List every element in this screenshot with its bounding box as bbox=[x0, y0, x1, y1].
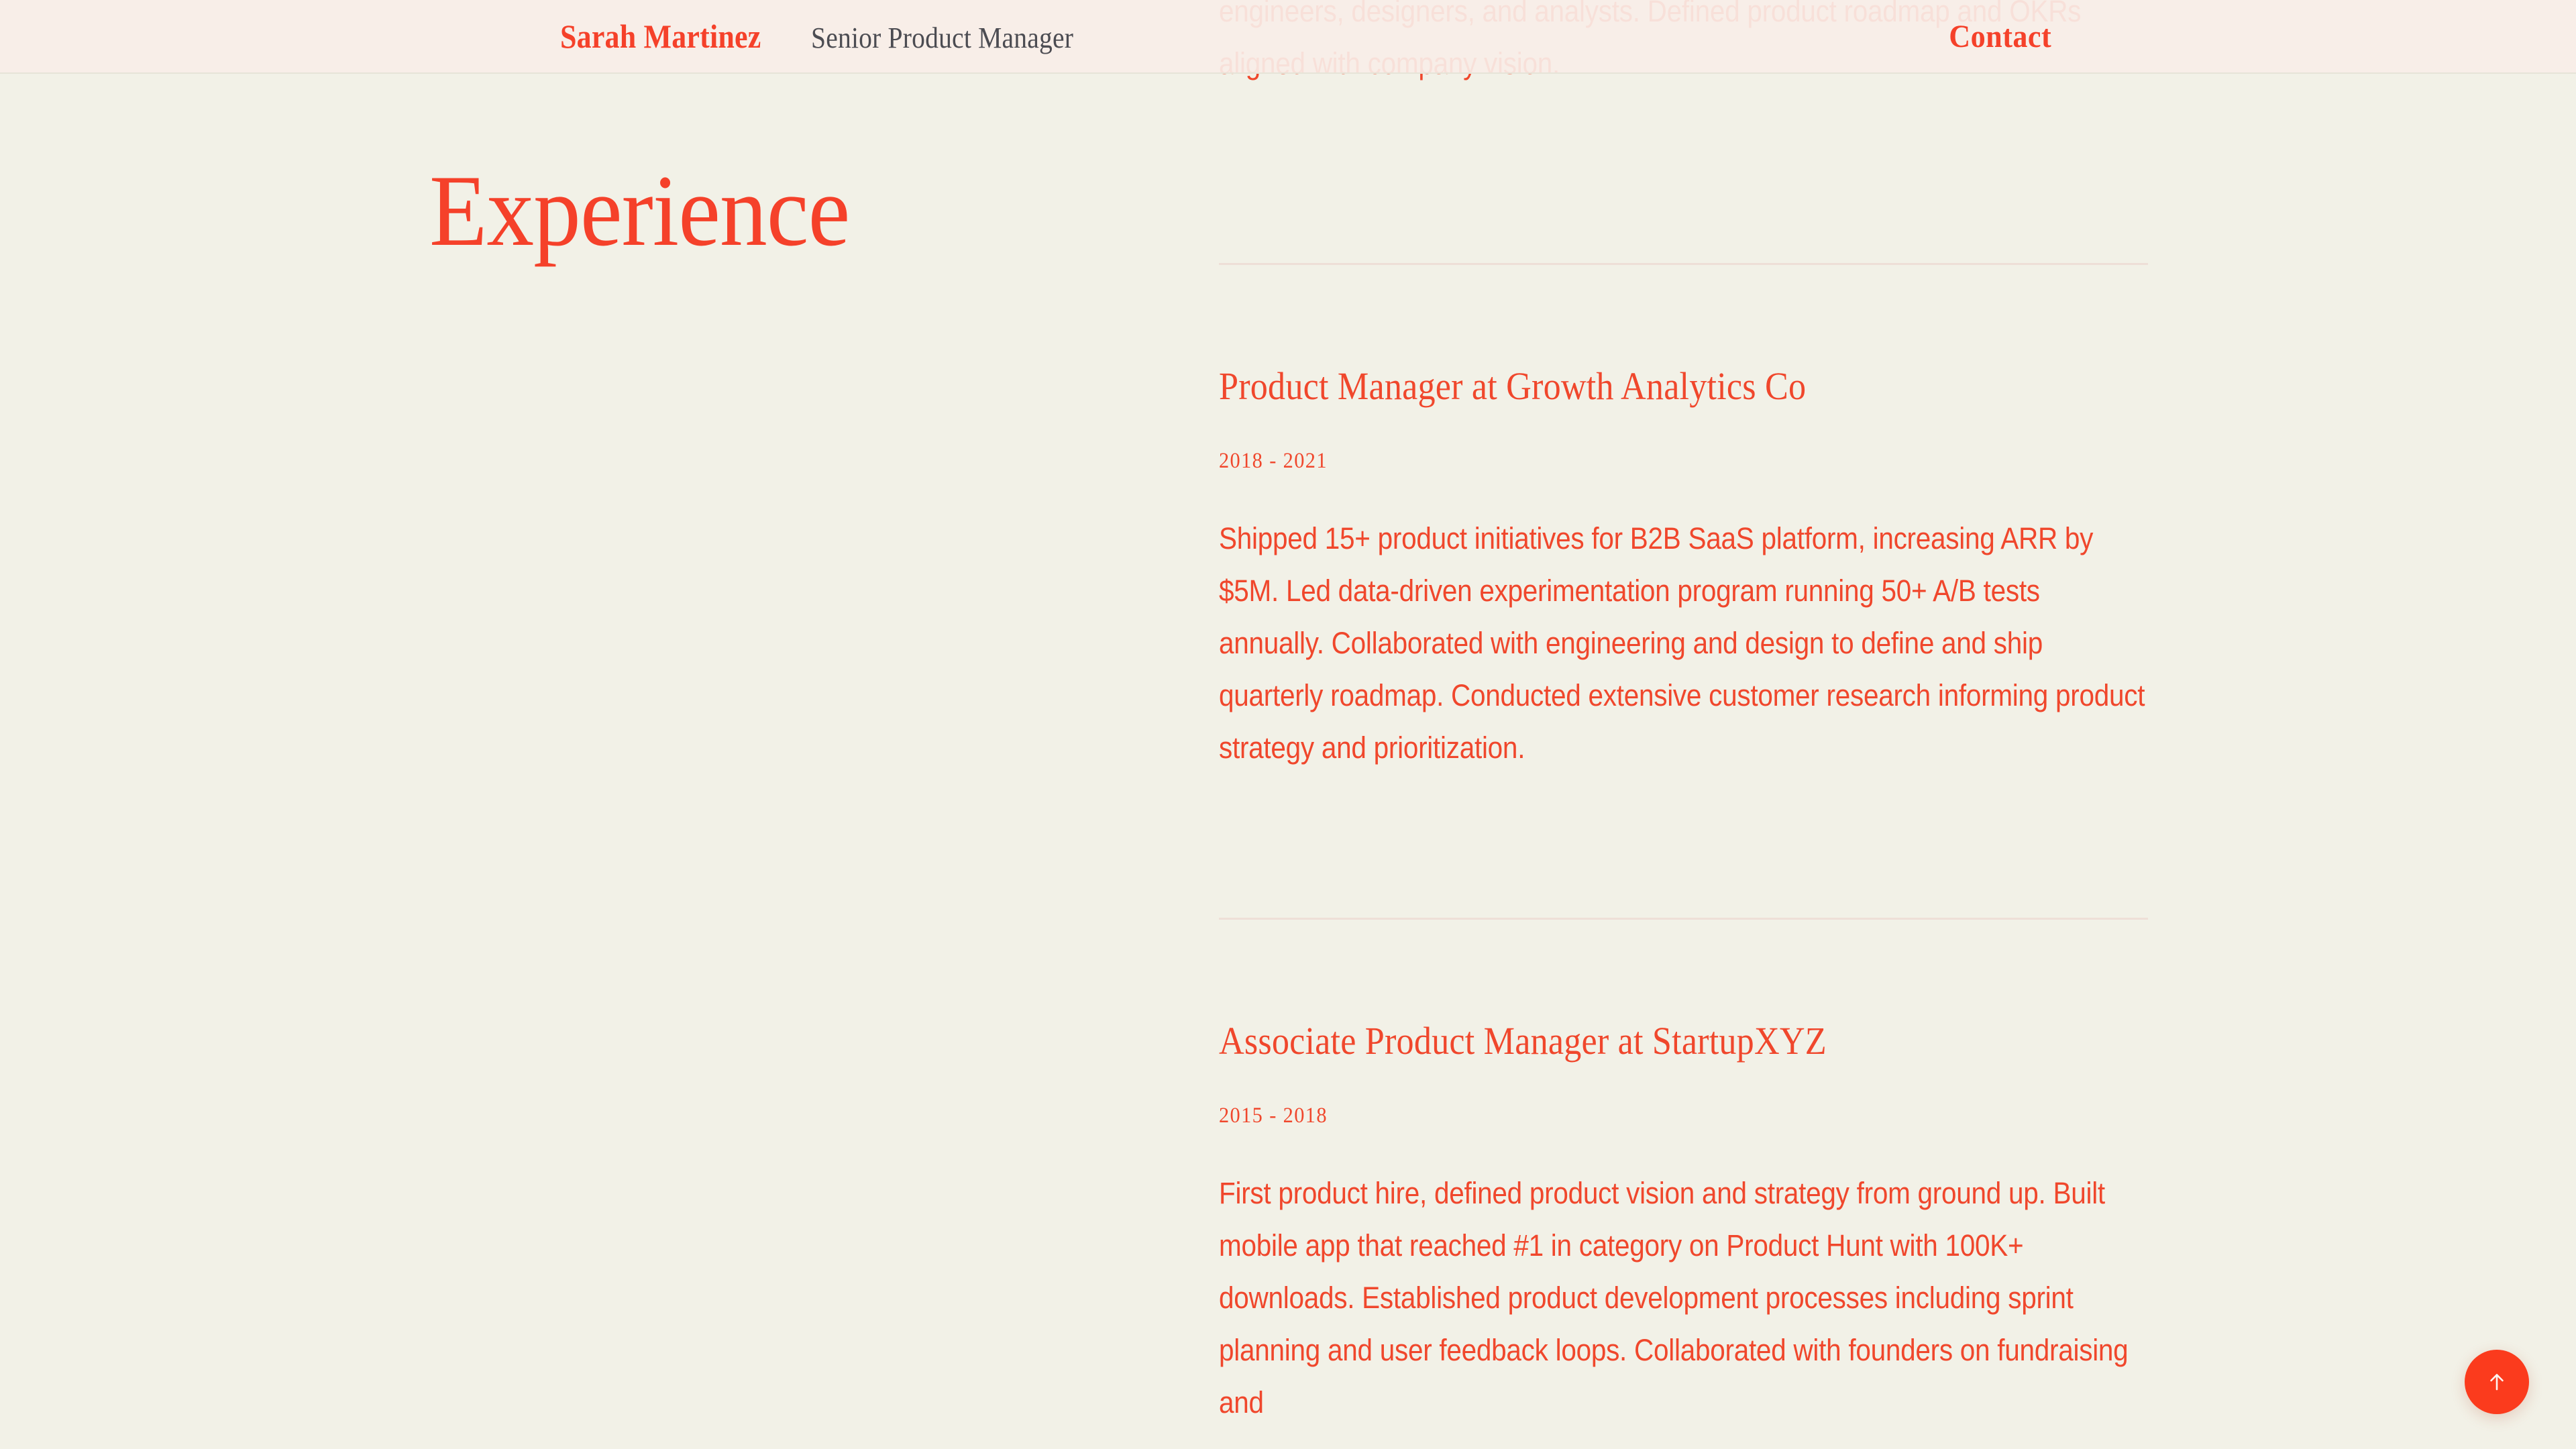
entry-dates: 2015 - 2018 bbox=[1219, 1104, 1328, 1128]
brand-role: Senior Product Manager bbox=[811, 21, 1073, 55]
entry-description: First product hire, defined product visi… bbox=[1219, 1167, 2149, 1429]
entry-title: Associate Product Manager at StartupXYZ bbox=[1219, 1020, 1827, 1063]
brand-name[interactable]: Sarah Martinez bbox=[560, 17, 761, 56]
entry-dates: 2018 - 2021 bbox=[1219, 449, 1328, 474]
entry-description: Shipped 15+ product initiatives for B2B … bbox=[1219, 513, 2149, 774]
page-content: Experience engineers, designers, and ana… bbox=[0, 0, 2576, 1449]
site-header: Sarah Martinez Senior Product Manager Co… bbox=[0, 0, 2576, 74]
brand[interactable]: Sarah Martinez Senior Product Manager bbox=[560, 17, 1103, 56]
entry-title: Product Manager at Growth Analytics Co bbox=[1219, 365, 1806, 408]
nav-contact-link[interactable]: Contact bbox=[1949, 18, 2051, 55]
page-title: Experience bbox=[429, 160, 849, 262]
entry-divider bbox=[1219, 918, 2148, 920]
arrow-up-icon bbox=[2483, 1368, 2510, 1395]
entry-divider bbox=[1219, 263, 2148, 265]
scroll-to-top-button[interactable] bbox=[2465, 1350, 2529, 1414]
